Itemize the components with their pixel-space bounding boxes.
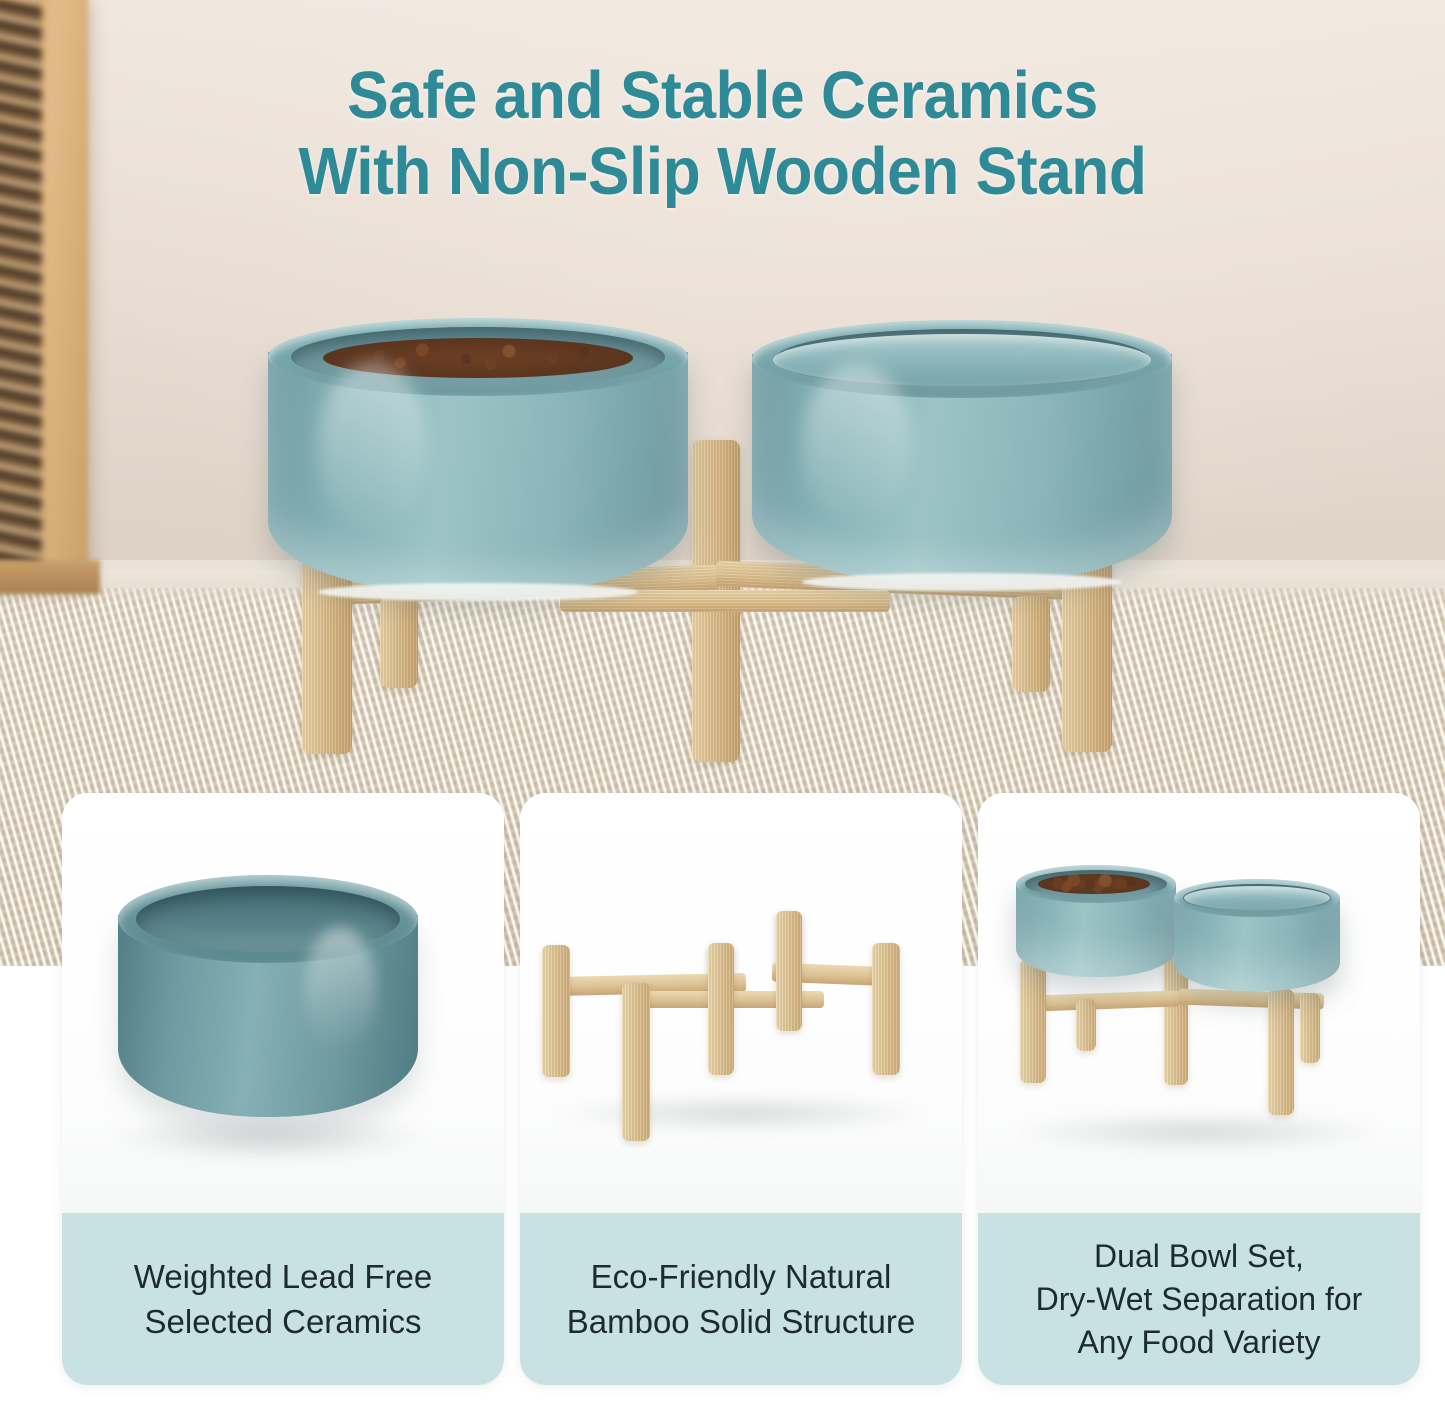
feature-card-ceramics[interactable]: Weighted Lead FreeSelected Ceramics — [62, 793, 504, 1385]
mini-stand-leg-left-back — [1076, 999, 1096, 1051]
caption-text: Weighted Lead FreeSelected Ceramics — [134, 1254, 432, 1344]
hero-bowl-food — [268, 318, 688, 594]
stand-post-right-back — [1012, 596, 1050, 692]
caption-text: Eco-Friendly NaturalBamboo Solid Structu… — [567, 1254, 916, 1344]
card-photo-ceramics — [62, 793, 504, 1213]
bowl-drop-shadow — [104, 1111, 434, 1163]
feature-cards: Weighted Lead FreeSelected Ceramics — [0, 793, 1445, 1393]
feature-card-dual-set[interactable]: Dual Bowl Set,Dry-Wet Separation forAny … — [978, 793, 1420, 1385]
stand-leg-center — [708, 943, 734, 1075]
bowl-highlight — [318, 362, 427, 533]
thumbnail-bamboo-stand — [520, 793, 962, 1213]
page-title: Safe and Stable Ceramics With Non-Slip W… — [51, 58, 1395, 210]
mini-stand-leg-left — [1020, 959, 1046, 1083]
bowl-highlight — [802, 364, 911, 528]
stand-leg-far-right — [872, 943, 900, 1075]
stand-leg-back-right — [776, 911, 802, 1031]
bowl-highlight — [304, 927, 376, 1053]
stand-post-left-back — [380, 596, 418, 688]
card-caption-bamboo: Eco-Friendly NaturalBamboo Solid Structu… — [520, 1213, 962, 1385]
card-photo-bamboo — [520, 793, 962, 1213]
stand-leg-front-left — [622, 983, 650, 1141]
mini-bowl-food — [1016, 865, 1176, 977]
mini-stand-rail-left — [1030, 990, 1180, 1011]
card-photo-dual-set — [978, 793, 1420, 1213]
card-caption-dual-set: Dual Bowl Set,Dry-Wet Separation forAny … — [978, 1213, 1420, 1385]
caption-text: Dual Bowl Set,Dry-Wet Separation forAny … — [1036, 1235, 1363, 1364]
headline-line-2: With Non-Slip Wooden Stand — [51, 134, 1395, 210]
hero-bowl-water — [752, 320, 1172, 584]
bowl-foot — [318, 583, 637, 601]
feature-card-bamboo[interactable]: Eco-Friendly NaturalBamboo Solid Structu… — [520, 793, 962, 1385]
water-surface — [1184, 886, 1330, 910]
headline-line-1: Safe and Stable Ceramics — [51, 58, 1395, 134]
mini-stand-leg-right — [1268, 989, 1294, 1115]
mini-bowl-water — [1174, 879, 1340, 991]
stand-leg-far-left — [542, 945, 570, 1077]
thumbnail-dual-bowl-set — [978, 793, 1420, 1213]
bowl-foot — [802, 573, 1121, 591]
card-caption-ceramics: Weighted Lead FreeSelected Ceramics — [62, 1213, 504, 1385]
thumbnail-ceramic-bowl — [118, 875, 418, 1117]
mini-stand-leg-right-back — [1300, 993, 1320, 1063]
dry-food-kibble — [1038, 874, 1150, 894]
